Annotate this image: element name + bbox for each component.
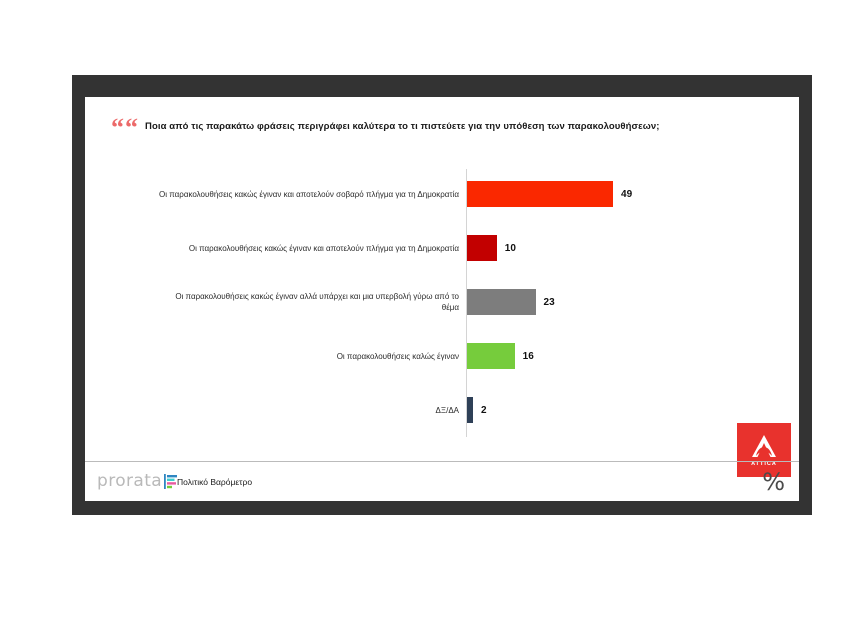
prorata-logo: prorata bbox=[97, 471, 178, 491]
percent-icon: % bbox=[762, 468, 785, 496]
bar bbox=[467, 289, 536, 315]
bar-and-value: 2 bbox=[467, 397, 487, 423]
bar-value-label: 16 bbox=[523, 351, 534, 362]
bar-category-label: ΔΞ/ΔΑ bbox=[159, 405, 459, 416]
slide-footer: prorata Πολιτικό Βαρόμετρο % bbox=[85, 462, 799, 501]
attica-a-icon bbox=[749, 433, 779, 459]
page-title: Ποια από τις παρακάτω φράσεις περιγράφει… bbox=[145, 121, 785, 132]
bar bbox=[467, 343, 515, 369]
bar-value-label: 2 bbox=[481, 405, 487, 416]
bar-value-label: 23 bbox=[544, 297, 555, 308]
prorata-wordmark: prorata bbox=[97, 471, 162, 491]
bar-row: Οι παρακολουθήσεις κακώς έγιναν και αποτ… bbox=[85, 167, 799, 221]
slide-header: ““ Ποια από τις παρακάτω φράσεις περιγρά… bbox=[85, 111, 799, 147]
bar-and-value: 49 bbox=[467, 181, 632, 207]
presentation-frame: ““ Ποια από τις παρακάτω φράσεις περιγρά… bbox=[72, 75, 812, 515]
bar-value-label: 49 bbox=[621, 189, 632, 200]
bar-row: ΔΞ/ΔΑ2 bbox=[85, 383, 799, 437]
bar-category-label: Οι παρακολουθήσεις κακώς έγιναν αλλά υπά… bbox=[159, 291, 459, 313]
slide-canvas: ““ Ποια από τις παρακάτω φράσεις περιγρά… bbox=[85, 97, 799, 501]
bar-category-label: Οι παρακολουθήσεις κακώς έγιναν και αποτ… bbox=[159, 243, 459, 254]
bar bbox=[467, 235, 497, 261]
quote-mark-icon: ““ bbox=[111, 115, 139, 141]
bar-row: Οι παρακολουθήσεις καλώς έγιναν16 bbox=[85, 329, 799, 383]
bar-value-label: 10 bbox=[505, 243, 516, 254]
bar-row: Οι παρακολουθήσεις κακώς έγιναν και αποτ… bbox=[85, 221, 799, 275]
bar-category-label: Οι παρακολουθήσεις καλώς έγιναν bbox=[159, 351, 459, 362]
bar-category-label: Οι παρακολουθήσεις κακώς έγιναν και αποτ… bbox=[159, 189, 459, 200]
footer-subtitle: Πολιτικό Βαρόμετρο bbox=[177, 477, 252, 487]
bar-row: Οι παρακολουθήσεις κακώς έγιναν αλλά υπά… bbox=[85, 275, 799, 329]
bar-and-value: 10 bbox=[467, 235, 516, 261]
prorata-bars-icon bbox=[164, 474, 178, 489]
bar bbox=[467, 397, 473, 423]
screenshot-root: ““ Ποια από τις παρακάτω φράσεις περιγρά… bbox=[0, 0, 868, 618]
bar bbox=[467, 181, 613, 207]
bar-and-value: 16 bbox=[467, 343, 534, 369]
bar-chart: Οι παρακολουθήσεις κακώς έγιναν και αποτ… bbox=[85, 167, 799, 477]
bar-and-value: 23 bbox=[467, 289, 555, 315]
